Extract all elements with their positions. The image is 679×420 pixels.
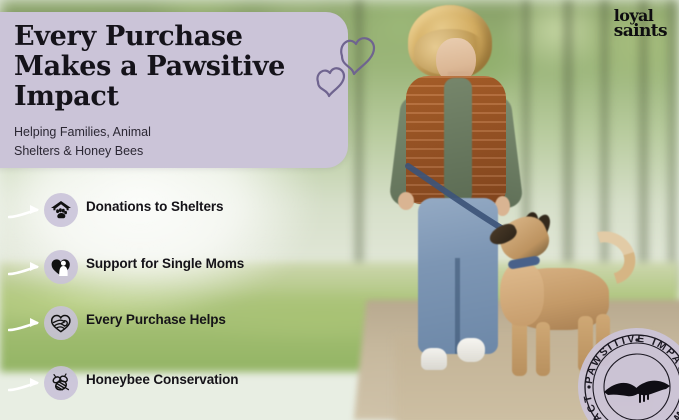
feature-label: Support for Single Moms: [86, 256, 244, 271]
headline-line-1: Every Purchase: [14, 22, 344, 52]
feature-icon-badge: [44, 250, 78, 284]
curved-arrow-icon: [8, 315, 42, 335]
feature-label: Every Purchase Helps: [86, 312, 226, 327]
subtitle-line-2: Shelters & Honey Bees: [14, 142, 344, 161]
page-subtitle: Helping Families, Animal Shelters & Hone…: [14, 123, 344, 161]
dog-chest: [500, 262, 544, 326]
feature-icon-badge: [44, 366, 78, 400]
headline-line-3: Impact: [14, 82, 344, 112]
curved-arrow-icon: [8, 202, 42, 222]
dog-leg: [536, 322, 550, 376]
white-sneaker-right: [457, 338, 485, 362]
list-item: Donations to Shelters: [0, 190, 330, 243]
list-item: Every Purchase Helps: [0, 303, 330, 356]
pawsitive-impact-stamp: PAWSITIVE IMPACT PAWSITIVE IMPACT: [578, 328, 679, 420]
brand-logo[interactable]: loyal saints: [614, 8, 667, 39]
feature-icon-badge: [44, 306, 78, 340]
dog-leg: [512, 318, 527, 376]
house-paw-icon: [49, 198, 73, 222]
feature-list: Donations to Shelters Support for Single…: [0, 190, 330, 416]
list-item: Support for Single Moms: [0, 247, 330, 300]
honeybee-icon: [49, 371, 73, 395]
hand-drawn-hearts-icon: [312, 22, 388, 100]
tree-trunk: [560, 0, 576, 300]
white-sneaker-left: [421, 348, 447, 370]
feature-label: Donations to Shelters: [86, 199, 223, 214]
stamp-text-top: PAWSITIVE IMPACT: [583, 333, 679, 385]
ad-banner: Every Purchase Makes a Pawsitive Impact …: [0, 0, 679, 420]
tree-trunk: [666, 0, 678, 290]
curved-arrow-icon: [8, 375, 42, 395]
page-title: Every Purchase Makes a Pawsitive Impact: [14, 22, 344, 112]
feature-label: Honeybee Conservation: [86, 372, 238, 387]
tree-trunk: [636, 0, 651, 300]
hand-paw-shake-icon: [604, 381, 670, 402]
heart-mother-child-icon: [49, 255, 73, 279]
curved-arrow-icon: [8, 259, 42, 279]
heart-handshake-paw-icon: [49, 311, 73, 335]
status-badge: PAWSITIVE IMPACT PAWSITIVE IMPACT: [578, 328, 679, 420]
hero-card-content: Every Purchase Makes a Pawsitive Impact …: [14, 22, 344, 161]
logo-line-2: saints: [614, 23, 667, 39]
list-item: Honeybee Conservation: [0, 363, 330, 416]
headline-line-2: Makes a Pawsitive: [14, 52, 344, 82]
hero-card: Every Purchase Makes a Pawsitive Impact …: [0, 12, 348, 168]
subtitle-line-1: Helping Families, Animal: [14, 123, 344, 142]
feature-icon-badge: [44, 193, 78, 227]
